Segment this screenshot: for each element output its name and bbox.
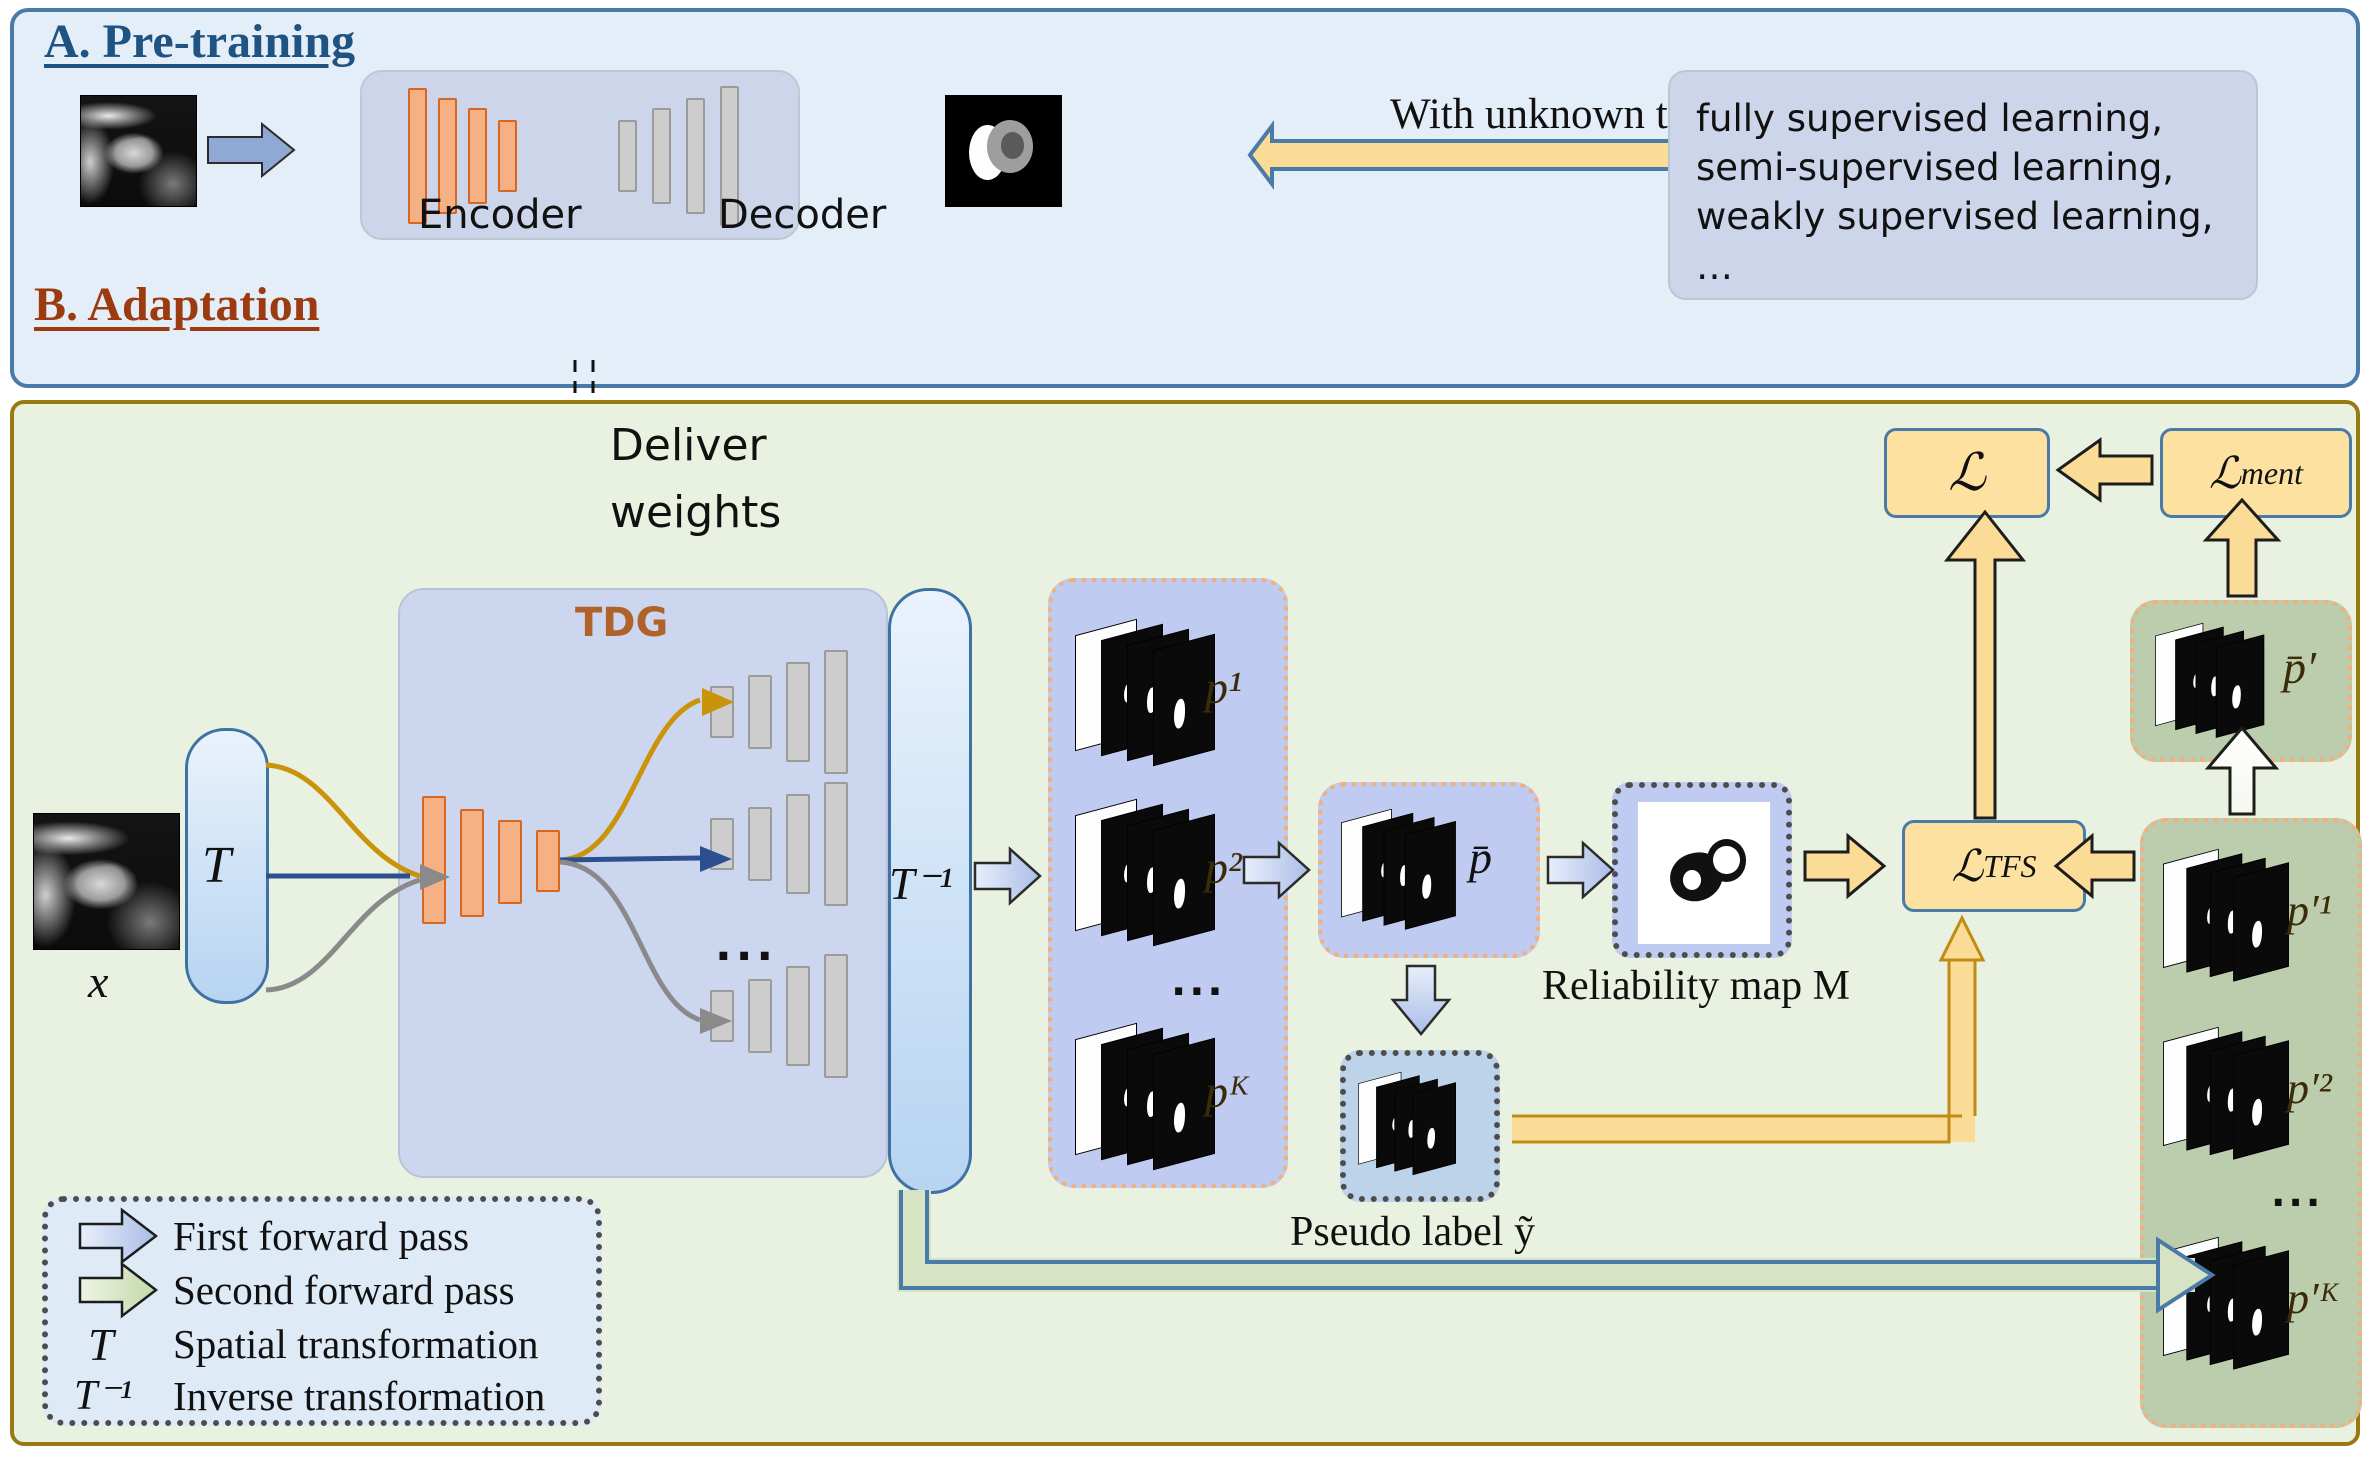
block-arrow-blue-icon bbox=[80, 1210, 156, 1262]
arrow-meanprediction2-to-mentloss-icon bbox=[2206, 500, 2278, 596]
legend-box: First forward pass Second forward pass T… bbox=[42, 1196, 602, 1426]
script-T-inverse-icon: T⁻¹ bbox=[74, 1370, 132, 1420]
arrow-inverse-to-predictions-icon bbox=[975, 849, 1040, 903]
legend-label-0: First forward pass bbox=[173, 1212, 469, 1260]
tdg-split-bot-icon bbox=[560, 862, 732, 1034]
legend-label-2: Spatial transformation bbox=[173, 1320, 539, 1368]
arrow-mentloss-to-totalloss-icon bbox=[2058, 440, 2152, 500]
arrow-reliability-to-tfsloss-icon bbox=[1805, 836, 1884, 896]
tdg-split-top-icon bbox=[560, 688, 734, 860]
legend-label-3: Inverse transformation bbox=[173, 1372, 545, 1420]
figure-canvas: A. Pre-training Enc bbox=[0, 0, 2376, 1458]
arrow-tfsloss-to-totalloss-icon bbox=[1947, 512, 2023, 818]
arrow-predictions-to-mean-icon bbox=[1244, 843, 1309, 897]
arrow-secondpass-to-meanprediction2-icon bbox=[2208, 728, 2276, 814]
second-forward-pass-arrow-icon bbox=[901, 1190, 2212, 1310]
branch-curve-top-icon bbox=[266, 765, 420, 876]
arrow-secondpass-to-tfsloss-icon bbox=[2056, 836, 2134, 896]
branch-curve-bot-icon bbox=[266, 880, 420, 990]
block-arrow-green-icon bbox=[80, 1264, 156, 1316]
arrow-mean-to-pseudolabel-icon bbox=[1393, 966, 1449, 1034]
arrow-pseudolabel-to-tfsloss-icon bbox=[1512, 918, 1983, 1142]
legend-label-1: Second forward pass bbox=[173, 1266, 515, 1314]
script-T-icon: T bbox=[88, 1318, 114, 1371]
branch-arrowhead-into-encoder-icon bbox=[420, 864, 450, 890]
arrow-mean-to-reliability-icon bbox=[1548, 843, 1613, 897]
